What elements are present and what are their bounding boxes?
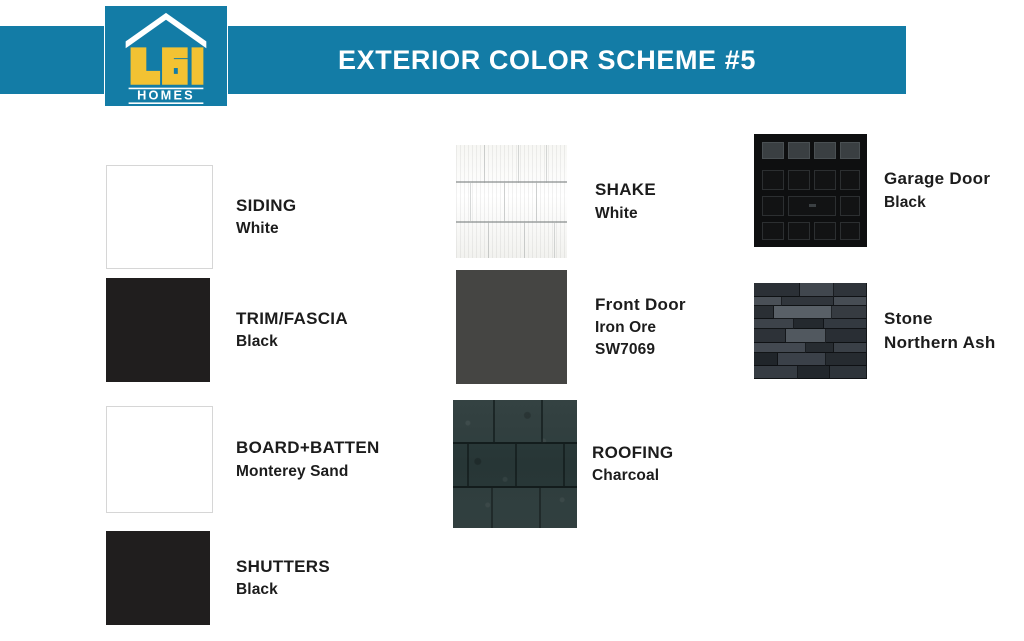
labels-garage-door: Garage Door Black [867,134,1024,247]
entry-shutters: SHUTTERS Black [106,531,430,625]
entry-roofing: ROOFING Charcoal [453,400,777,528]
stone-title: Stone [884,307,1024,331]
roofing-title: ROOFING [592,441,777,465]
color-scheme-board: SIDING White TRIM/FASCIA Black BOARD+BAT… [0,112,1024,641]
front-door-value-code: SW7069 [595,339,767,361]
swatch-siding [106,165,213,269]
siding-value: White [236,218,413,240]
stone-value: Northern Ash [884,331,1024,355]
shutters-value: Black [236,579,430,601]
labels-shake: SHAKE White [567,145,767,258]
trim-fascia-title: TRIM/FASCIA [236,307,440,331]
labels-stone: Stone Northern Ash [867,283,1024,379]
garage-door-value: Black [884,192,1024,214]
front-door-title: Front Door [595,293,767,317]
lgi-letters [131,47,204,84]
swatch-shake [456,145,567,258]
logo-tagline: HOMES [137,87,195,102]
entry-stone: Stone Northern Ash [754,283,1024,379]
trim-fascia-value: Black [236,331,440,353]
entry-shake: SHAKE White [456,145,767,258]
board-batten-title: BOARD+BATTEN [236,436,453,460]
front-door-value: Iron Ore [595,317,767,339]
garage-door-title: Garage Door [884,167,1024,191]
shake-title: SHAKE [595,178,767,202]
entry-garage-door: Garage Door Black [754,134,1024,247]
labels-siding: SIDING White [213,165,413,269]
labels-trim-fascia: TRIM/FASCIA Black [210,278,440,382]
page-header: EXTERIOR COLOR SCHEME #5 HOMES [0,0,1024,112]
labels-board-batten: BOARD+BATTEN Monterey Sand [213,406,453,513]
board-batten-value: Monterey Sand [236,461,453,483]
roof-icon [126,13,207,48]
swatch-front-door [456,270,567,384]
shutters-title: SHUTTERS [236,555,430,579]
entry-siding: SIDING White [106,165,413,269]
page-title: EXTERIOR COLOR SCHEME #5 [236,26,858,94]
lgi-homes-logo: HOMES [104,5,228,107]
swatch-garage-door [754,134,867,247]
swatch-shutters [106,531,210,625]
shake-value: White [595,203,767,225]
swatch-stone [754,283,867,379]
roofing-value: Charcoal [592,465,777,487]
swatch-board-batten [106,406,213,513]
logo-artwork: HOMES [105,6,227,106]
swatch-trim-fascia [106,278,210,382]
siding-title: SIDING [236,194,413,218]
entry-front-door: Front Door Iron Ore SW7069 [456,270,767,384]
labels-roofing: ROOFING Charcoal [577,400,777,528]
swatch-roofing [453,400,577,528]
entry-board-batten: BOARD+BATTEN Monterey Sand [106,406,453,513]
labels-shutters: SHUTTERS Black [210,531,430,625]
labels-front-door: Front Door Iron Ore SW7069 [567,270,767,384]
entry-trim-fascia: TRIM/FASCIA Black [106,278,440,382]
